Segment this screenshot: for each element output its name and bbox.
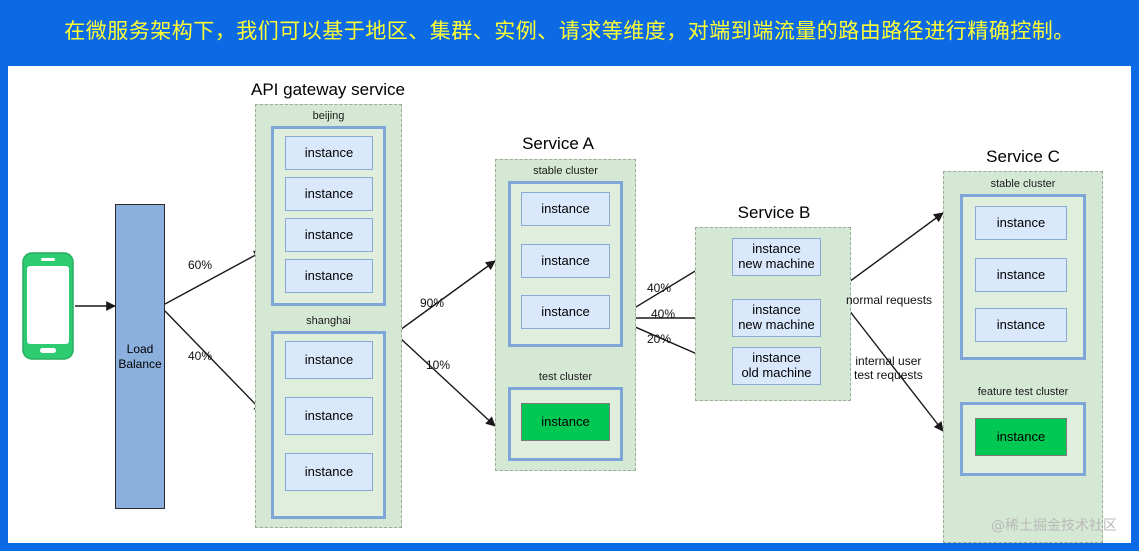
edge-label-lb-to-beijing: 60%: [188, 258, 212, 272]
instance-node[interactable]: instance: [521, 244, 610, 278]
instance-node[interactable]: instance: [285, 341, 373, 379]
instance-node[interactable]: instance: [285, 453, 373, 491]
cluster-label-stable-cluster-a: stable cluster: [495, 165, 636, 177]
screenshot-root: 在微服务架构下，我们可以基于地区、集群、实例、请求等维度，对端到端流量的路由路径…: [0, 0, 1139, 551]
instance-label: instance: [305, 187, 353, 202]
instance-node[interactable]: instance: [285, 259, 373, 293]
edge-label-a-to-b-new2: 40%: [651, 307, 675, 321]
instance-sublabel: new machine: [738, 318, 815, 333]
instance-label: instance: [305, 146, 353, 161]
cluster-label-beijing: beijing: [255, 110, 402, 122]
instance-label: instance: [305, 353, 353, 368]
instance-node[interactable]: instance new machine: [732, 238, 821, 276]
instance-label: instance: [997, 216, 1045, 231]
instance-node[interactable]: instance: [285, 136, 373, 170]
load-balance-line2: Balance: [118, 357, 161, 372]
instance-label: instance: [541, 415, 589, 430]
instance-node[interactable]: instance new machine: [732, 299, 821, 337]
instance-sublabel: new machine: [738, 257, 815, 272]
cluster-label-stable-cluster-c: stable cluster: [943, 178, 1103, 190]
instance-node[interactable]: instance: [975, 308, 1067, 342]
instance-node[interactable]: instance: [285, 218, 373, 252]
edge-label-a-to-b-new1: 40%: [647, 281, 671, 295]
instance-label: instance: [752, 303, 800, 318]
instance-node[interactable]: instance: [521, 192, 610, 226]
instance-label: instance: [305, 465, 353, 480]
edge-label-gateway-to-test-a: 10%: [426, 358, 450, 372]
instance-node[interactable]: instance: [285, 177, 373, 211]
cluster-label-test-cluster-a: test cluster: [495, 371, 636, 383]
group-title-api-gateway-service: API gateway service: [243, 80, 413, 100]
edge-label-internal-line1: internal user: [854, 354, 923, 368]
diagram-canvas: Load Balance API gateway service beijing…: [8, 66, 1131, 543]
instance-label: instance: [997, 268, 1045, 283]
instance-node[interactable]: instance: [521, 295, 610, 329]
instance-node[interactable]: instance: [975, 258, 1067, 292]
instance-sublabel: old machine: [741, 366, 811, 381]
cluster-label-shanghai: shanghai: [255, 315, 402, 327]
instance-label: instance: [541, 305, 589, 320]
instance-node[interactable]: instance old machine: [732, 347, 821, 385]
instance-node-green[interactable]: instance: [521, 403, 610, 441]
load-balancer-node[interactable]: Load Balance: [115, 204, 165, 509]
instance-node[interactable]: instance: [975, 206, 1067, 240]
group-title-service-c: Service C: [943, 147, 1103, 167]
edge-label-gateway-to-stable-a: 90%: [420, 296, 444, 310]
edge-label-internal-user-test-requests: internal user test requests: [854, 354, 923, 383]
instance-label: instance: [541, 254, 589, 269]
instance-node-green[interactable]: instance: [975, 418, 1067, 456]
instance-label: instance: [305, 228, 353, 243]
edge-label-normal-requests: normal requests: [846, 293, 932, 307]
banner: 在微服务架构下，我们可以基于地区、集群、实例、请求等维度，对端到端流量的路由路径…: [0, 0, 1139, 60]
instance-label: instance: [305, 269, 353, 284]
mobile-phone-icon: [22, 252, 74, 360]
watermark: @稀土掘金技术社区: [991, 515, 1117, 535]
instance-label: instance: [305, 409, 353, 424]
instance-label: instance: [752, 351, 800, 366]
group-title-service-a: Service A: [478, 134, 638, 154]
instance-label: instance: [752, 242, 800, 257]
instance-node[interactable]: instance: [285, 397, 373, 435]
instance-label: instance: [997, 318, 1045, 333]
load-balance-line1: Load: [127, 342, 154, 357]
group-title-service-b: Service B: [698, 203, 850, 223]
edge-label-a-to-b-old: 20%: [647, 332, 671, 346]
edge-label-internal-line2: test requests: [854, 368, 923, 382]
edge-label-lb-to-shanghai: 40%: [188, 349, 212, 363]
cluster-label-feature-test-cluster-c: feature test cluster: [943, 386, 1103, 398]
instance-label: instance: [541, 202, 589, 217]
banner-text: 在微服务架构下，我们可以基于地区、集群、实例、请求等维度，对端到端流量的路由路径…: [64, 15, 1075, 45]
instance-label: instance: [997, 430, 1045, 445]
